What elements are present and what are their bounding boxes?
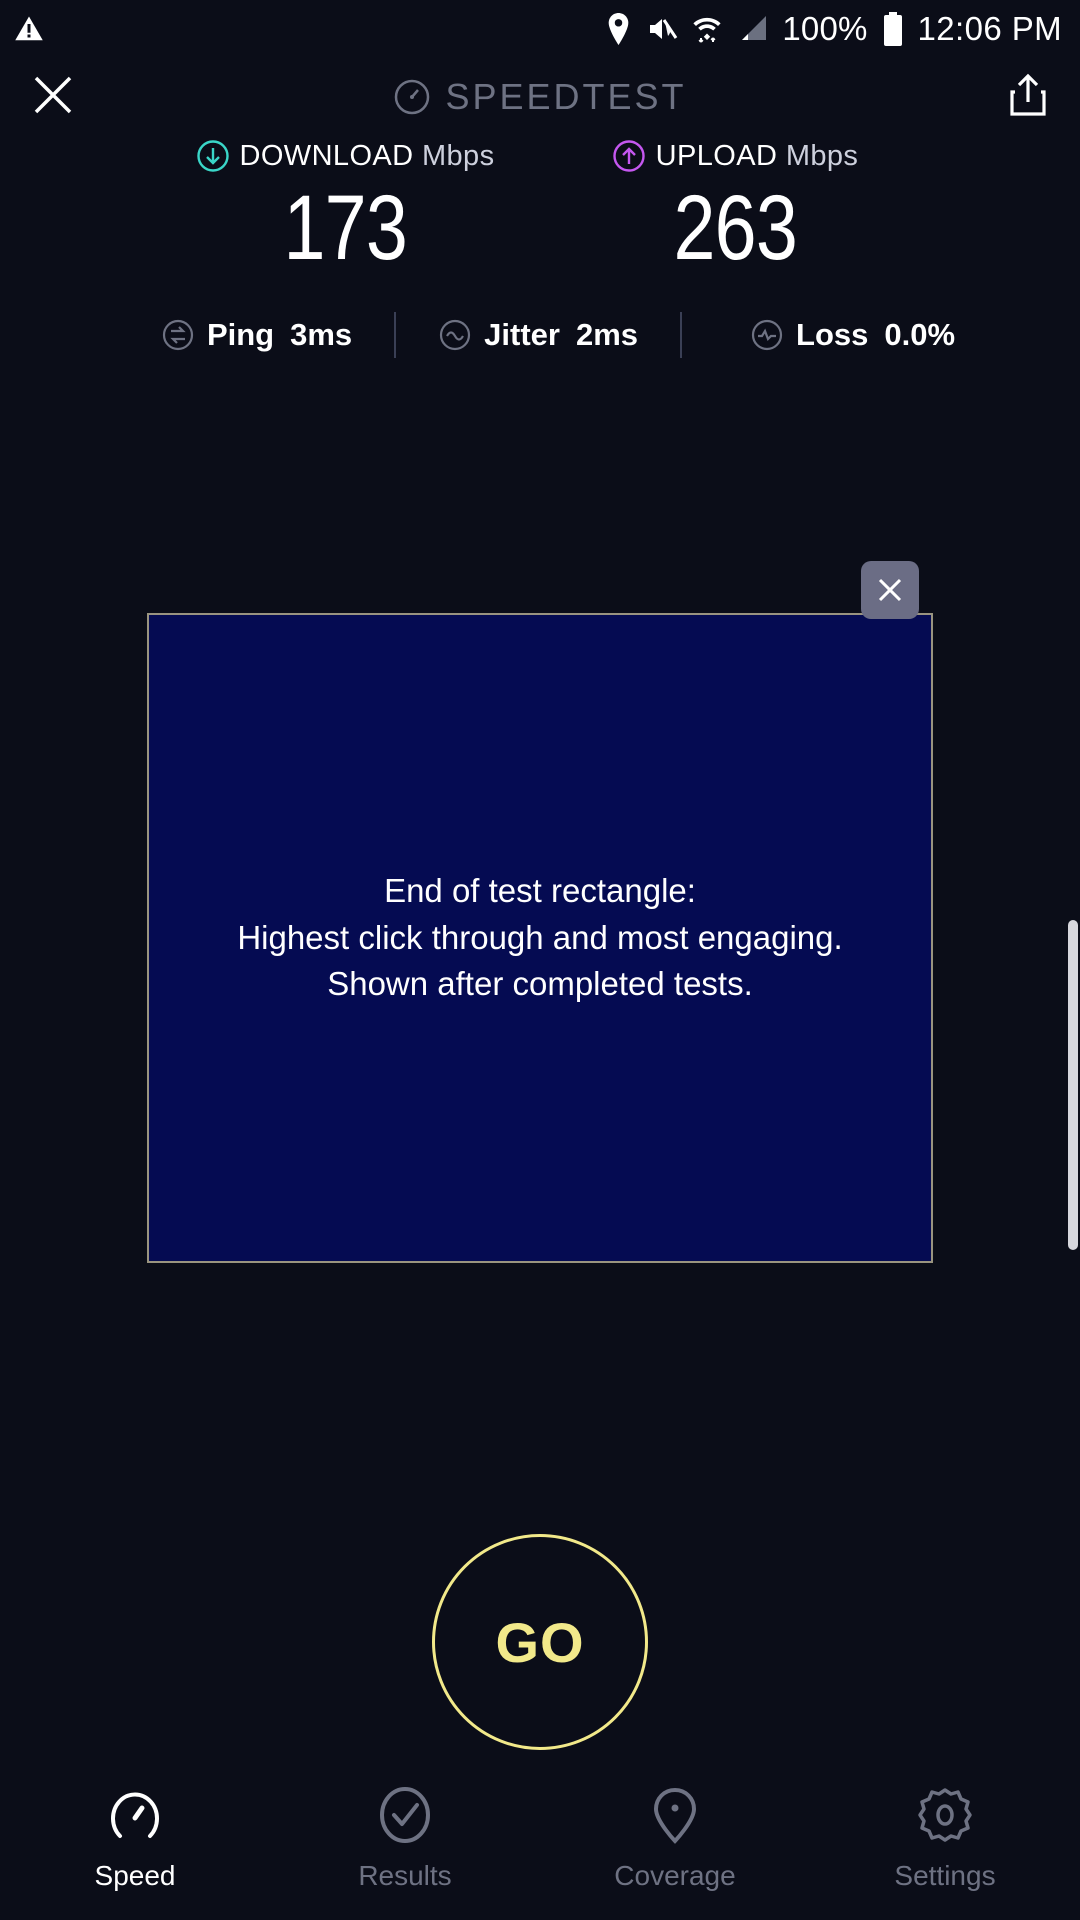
bottom-navigation: Speed Results Coverage: [0, 1770, 1080, 1920]
ping-icon: [161, 318, 195, 352]
upload-label-text: UPLOAD: [656, 140, 778, 172]
upload-unit: Mbps: [786, 140, 859, 172]
metric-jitter-name: Jitter: [484, 317, 560, 353]
nav-item-coverage[interactable]: Coverage: [540, 1784, 810, 1892]
metric-jitter: Jitter 2ms: [438, 317, 638, 353]
metric-loss-name: Loss: [796, 317, 868, 353]
metric-divider: [394, 312, 396, 358]
warning-triangle-icon: [14, 14, 44, 44]
check-circle-icon: [374, 1784, 436, 1846]
metric-loss-value: 0.0%: [884, 317, 955, 353]
volume-mute-icon: [646, 14, 678, 44]
close-icon[interactable]: [30, 72, 76, 123]
metric-ping-name: Ping: [207, 317, 274, 353]
nav-label-settings: Settings: [894, 1860, 995, 1892]
speedtest-app-screen: 100% 12:06 PM SP: [0, 0, 1080, 1920]
nav-label-speed: Speed: [95, 1860, 176, 1892]
location-pin-icon: [644, 1784, 706, 1846]
upload-arrow-icon: [612, 139, 646, 173]
metric-loss: Loss 0.0%: [750, 317, 955, 353]
download-arrow-icon: [196, 139, 230, 173]
upload-value: 263: [673, 182, 796, 274]
app-header: SPEEDTEST: [0, 58, 1080, 136]
ad-close-icon[interactable]: [861, 561, 919, 619]
metric-ping-value: 3ms: [290, 317, 352, 353]
nav-label-coverage: Coverage: [614, 1860, 735, 1892]
metric-divider: [680, 312, 682, 358]
nav-label-results: Results: [358, 1860, 451, 1892]
metric-ping: Ping 3ms: [161, 317, 352, 353]
battery-percent-label: 100%: [782, 10, 867, 48]
go-button-label: GO: [495, 1610, 584, 1675]
status-bar: 100% 12:06 PM: [0, 0, 1080, 58]
results-summary: DOWNLOAD Mbps 173 UPLOAD: [0, 136, 1080, 274]
wifi-icon: [692, 12, 722, 46]
upload-result: UPLOAD Mbps 263: [545, 136, 925, 274]
ad-banner[interactable]: End of test rectangle: Highest click thr…: [147, 613, 933, 1263]
page-scrollbar[interactable]: [1068, 920, 1078, 1250]
location-pin-icon: [605, 13, 632, 45]
download-label-text: DOWNLOAD: [240, 140, 414, 172]
battery-full-icon: [882, 12, 904, 46]
nav-item-results[interactable]: Results: [270, 1784, 540, 1892]
loss-icon: [750, 318, 784, 352]
brand-title: SPEEDTEST: [0, 58, 1080, 136]
gear-icon: [914, 1784, 976, 1846]
brand-label: SPEEDTEST: [445, 76, 686, 118]
upload-label: UPLOAD Mbps: [656, 140, 859, 173]
download-unit: Mbps: [422, 140, 495, 172]
advertisement-container: End of test rectangle: Highest click thr…: [147, 613, 933, 1263]
share-icon[interactable]: [1006, 72, 1050, 123]
go-button[interactable]: GO: [432, 1534, 648, 1750]
speedometer-icon: [393, 78, 431, 116]
nav-item-settings[interactable]: Settings: [810, 1784, 1080, 1892]
metric-jitter-value: 2ms: [576, 317, 638, 353]
download-value: 173: [283, 182, 406, 274]
download-result: DOWNLOAD Mbps 173: [155, 136, 535, 274]
nav-item-speed[interactable]: Speed: [0, 1784, 270, 1892]
cellular-signal-icon: [736, 14, 768, 44]
jitter-icon: [438, 318, 472, 352]
speedometer-icon: [104, 1784, 166, 1846]
download-label: DOWNLOAD Mbps: [240, 140, 495, 173]
metrics-row: Ping 3ms Jitter 2ms Loss 0.0: [0, 300, 1080, 370]
ad-text: End of test rectangle: Highest click thr…: [237, 868, 842, 1009]
clock-label: 12:06 PM: [918, 10, 1062, 48]
